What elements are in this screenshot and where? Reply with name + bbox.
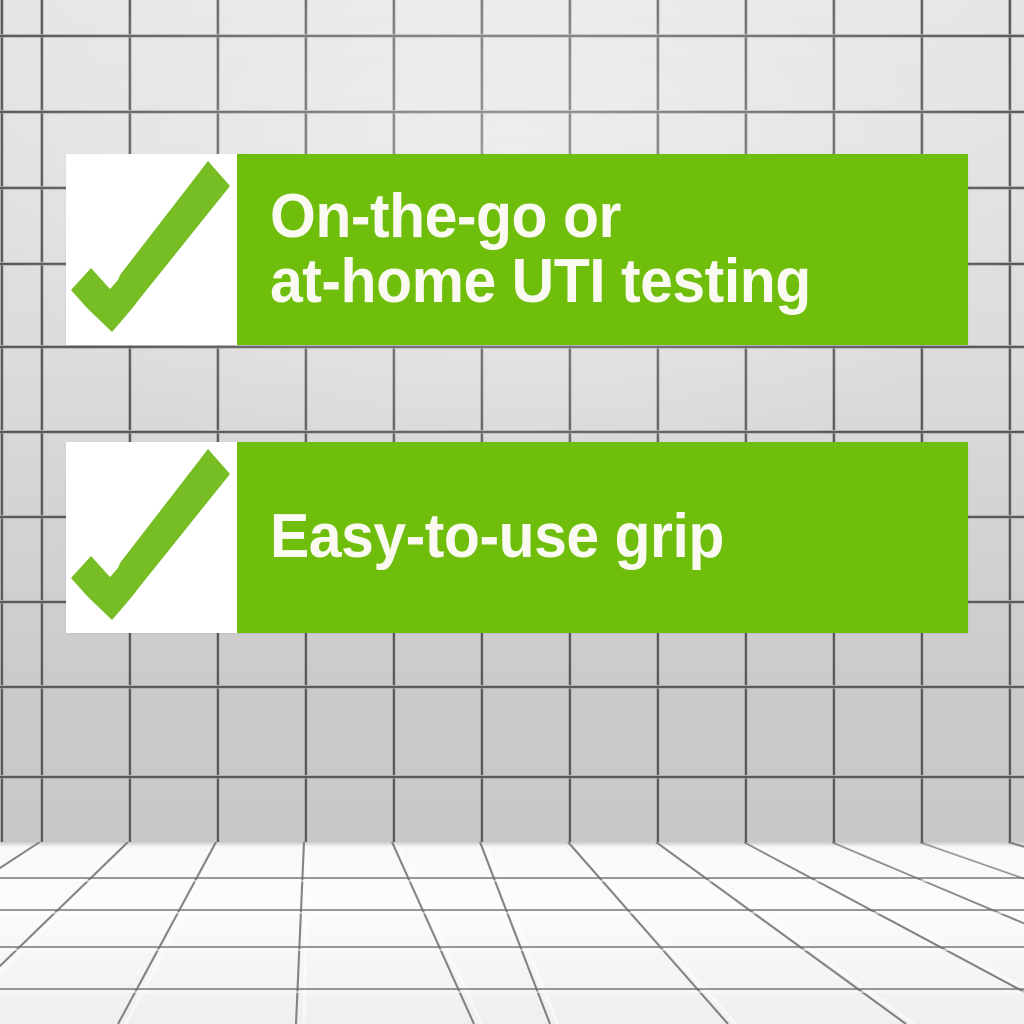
feature-line-1: Easy-to-use grip	[270, 507, 918, 568]
wall-grout-vertical	[568, 0, 572, 844]
wall-grout-vertical	[656, 0, 660, 844]
checkmark-panel	[66, 442, 237, 633]
wall-floor-junction-shadow	[0, 842, 1024, 847]
wall-highlight	[0, 0, 1024, 844]
wall-grout-horizontal	[0, 775, 1024, 779]
tiled-wall-background	[0, 0, 1024, 844]
feature-line-1: On-the-go or	[270, 187, 918, 248]
checkmark-panel	[66, 154, 237, 345]
wall-grout-vertical	[40, 0, 44, 844]
wall-grout-vertical	[832, 0, 836, 844]
wall-grout-vertical	[392, 0, 396, 844]
feature-banner-text-area: On-the-go or at-home UTI testing	[237, 154, 968, 345]
checkmark-icon	[66, 442, 237, 633]
wall-grout-horizontal	[0, 430, 1024, 434]
feature-line-2: at-home UTI testing	[270, 252, 918, 313]
wall-grout-vertical	[128, 0, 132, 844]
wall-grout-vertical	[216, 0, 220, 844]
wall-grout-vertical	[1008, 0, 1012, 844]
floor-perspective-grid	[0, 842, 1024, 1024]
wall-grout-vertical	[304, 0, 308, 844]
product-feature-graphic: On-the-go or at-home UTI testing Easy-to…	[0, 0, 1024, 1024]
checkmark-icon	[66, 154, 237, 345]
tiled-floor	[0, 842, 1024, 1024]
wall-grout-horizontal	[0, 110, 1024, 114]
wall-grout-vertical	[0, 0, 4, 844]
wall-grout-horizontal	[0, 685, 1024, 689]
wall-grout-vertical	[480, 0, 484, 844]
wall-grout-vertical	[920, 0, 924, 844]
feature-banner-easy-grip: Easy-to-use grip	[66, 442, 968, 633]
feature-banner-on-the-go: On-the-go or at-home UTI testing	[66, 154, 968, 345]
feature-banner-text-area: Easy-to-use grip	[237, 442, 968, 633]
wall-grout-horizontal	[0, 345, 1024, 349]
wall-grout-vertical	[744, 0, 748, 844]
wall-grout-horizontal	[0, 34, 1024, 38]
